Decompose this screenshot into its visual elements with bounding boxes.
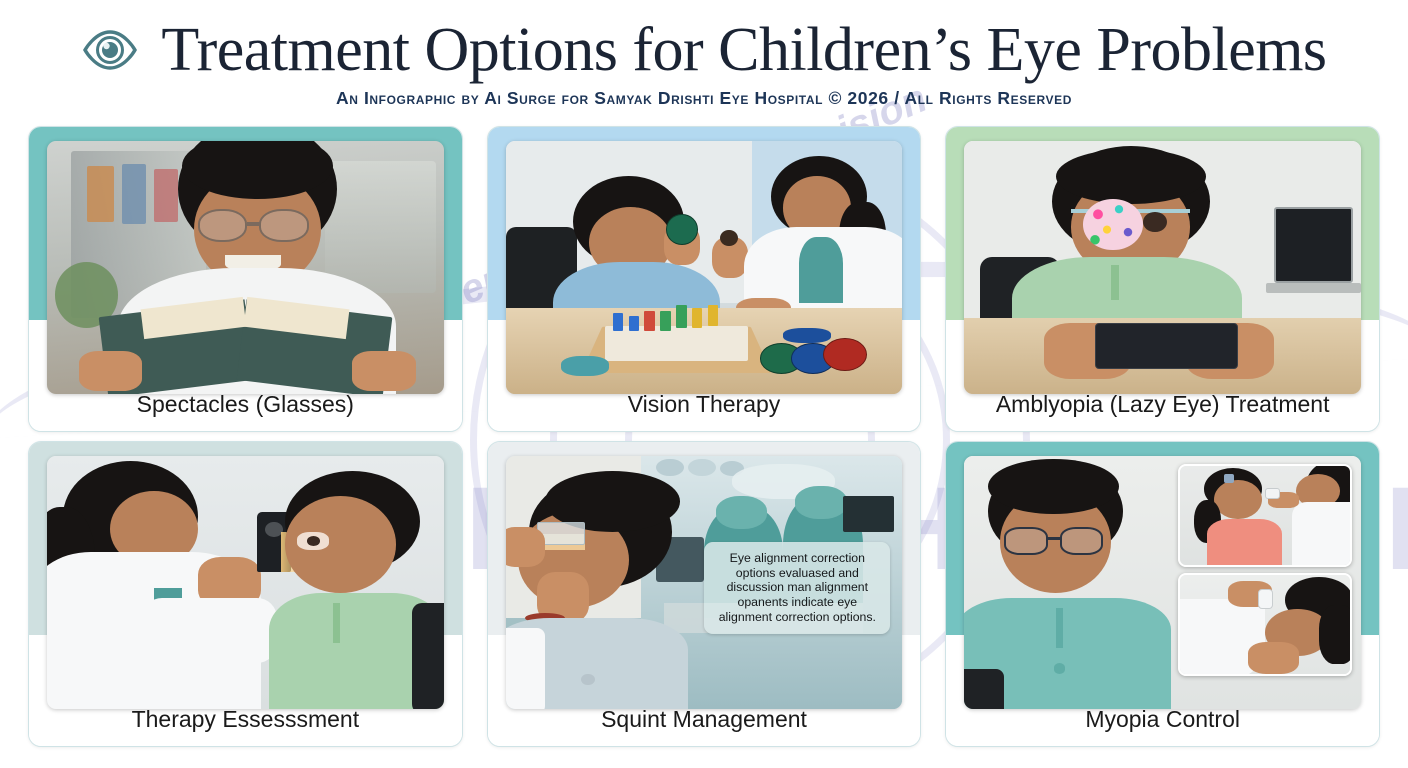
card-label: Spectacles (Glasses) — [137, 391, 354, 418]
card-image-myopia-control — [964, 456, 1361, 709]
card-image-spectacles — [47, 141, 444, 394]
page-subtitle: An Infographic by Ai Surge for Samyak Dr… — [0, 88, 1408, 109]
treatment-card-grid: Spectacles (Glasses) — [28, 126, 1380, 747]
card-label: Myopia Control — [1085, 706, 1240, 733]
card-spectacles[interactable]: Spectacles (Glasses) — [28, 126, 463, 432]
header: Treatment Options for Children’s Eye Pro… — [0, 0, 1408, 126]
squint-overlay-textbox: Eye alignment correction options evaluas… — [704, 542, 890, 634]
card-label: Vision Therapy — [628, 391, 781, 418]
card-label: Amblyopia (Lazy Eye) Treatment — [996, 391, 1330, 418]
title-row: Treatment Options for Children’s Eye Pro… — [0, 18, 1408, 82]
card-image-vision-therapy — [506, 141, 903, 394]
card-myopia-control[interactable]: Myopia Control — [945, 441, 1380, 747]
page-title: Treatment Options for Children’s Eye Pro… — [161, 18, 1326, 82]
card-squint-management[interactable]: Eye alignment correction options evaluas… — [487, 441, 922, 747]
card-vision-therapy[interactable]: Vision Therapy — [487, 126, 922, 432]
card-image-therapy-assessment — [47, 456, 444, 709]
eye-icon — [81, 27, 139, 73]
card-image-squint-management: Eye alignment correction options evaluas… — [506, 456, 903, 709]
inset-photo-eyedrops-reclining — [1178, 573, 1352, 676]
infographic-page: SAMYAK DRISHTI EYE HOSPITAL Where vision… — [0, 0, 1408, 768]
card-therapy-assessment[interactable]: Therapy Essesssment — [28, 441, 463, 747]
inset-photo-eyedrops-side — [1178, 464, 1352, 567]
card-image-amblyopia — [964, 141, 1361, 394]
card-amblyopia[interactable]: Amblyopia (Lazy Eye) Treatment — [945, 126, 1380, 432]
card-label: Therapy Essesssment — [132, 706, 360, 733]
card-label: Squint Management — [601, 706, 807, 733]
